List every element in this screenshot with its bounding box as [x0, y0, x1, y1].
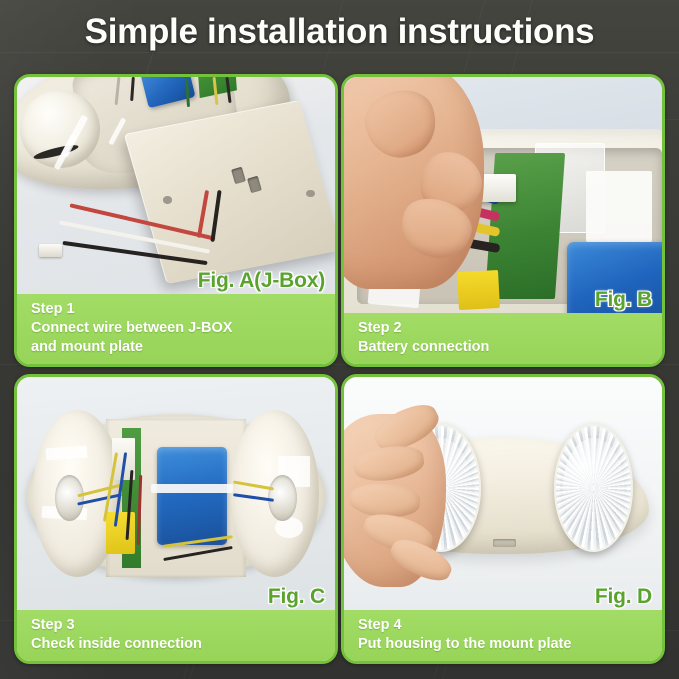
- fig-label-4: Fig. D: [595, 585, 652, 609]
- step-number-1: Step 1: [31, 300, 335, 319]
- step-caption-1: Step 1 Connect wire between J-BOX and mo…: [17, 294, 335, 364]
- instruction-poster: Simple installation instructions: [0, 0, 679, 679]
- lamp-socket-left-shape: [55, 475, 84, 522]
- photo-scene-mounting: [344, 377, 662, 610]
- photo-scene-jbox: [17, 77, 335, 294]
- ul-rating-label-shape: [586, 171, 653, 242]
- step-photo-1: Fig. A(J-Box): [17, 77, 335, 294]
- photo-scene-interior: [17, 377, 335, 610]
- step-text-4-line-1: Put housing to the mount plate: [358, 635, 662, 654]
- steps-grid: Fig. A(J-Box) Step 1 Connect wire betwee…: [14, 74, 665, 664]
- wire-connector-shape: [39, 244, 61, 257]
- step-text-3-line-1: Check inside connection: [31, 635, 335, 654]
- fig-label-3: Fig. C: [268, 585, 325, 609]
- battery-strap-shape: [151, 484, 234, 493]
- fig-label-1: Fig. A(J-Box): [198, 269, 325, 293]
- step-photo-2: Fig. B: [344, 77, 662, 313]
- test-button-shape: [493, 539, 515, 547]
- step-number-4: Step 4: [358, 616, 662, 635]
- step-text-2-line-1: Battery connection: [358, 338, 662, 357]
- step-card-3[interactable]: Fig. C Step 3 Check inside connection: [14, 374, 338, 664]
- step-text-1-line-1: Connect wire between J-BOX: [31, 319, 335, 338]
- yellow-component-shape: [458, 269, 501, 309]
- fig-label-2: Fig. B: [595, 288, 652, 312]
- step-caption-2: Step 2 Battery connection: [344, 313, 662, 364]
- transformer-shape: [106, 512, 135, 554]
- mount-plate-hole-shape: [306, 190, 314, 197]
- mount-plate-hole-shape: [163, 196, 171, 203]
- battery-pack-shape: [157, 447, 227, 545]
- step-card-1[interactable]: Fig. A(J-Box) Step 1 Connect wire betwee…: [14, 74, 338, 367]
- led-lamp-head-right-shape: [554, 424, 634, 552]
- step-card-2[interactable]: Fig. B Step 2 Battery connection: [341, 74, 665, 367]
- step-photo-4: Fig. D: [344, 377, 662, 610]
- page-title: Simple installation instructions: [0, 10, 679, 54]
- step-caption-3: Step 3 Check inside connection: [17, 610, 335, 661]
- step-number-3: Step 3: [31, 616, 335, 635]
- step-photo-3: Fig. C: [17, 377, 335, 610]
- step-caption-4: Step 4 Put housing to the mount plate: [344, 610, 662, 661]
- step-text-1-line-2: and mount plate: [31, 338, 335, 357]
- step-card-4[interactable]: Fig. D Step 4 Put housing to the mount p…: [341, 374, 665, 664]
- step-number-2: Step 2: [358, 319, 662, 338]
- photo-scene-battery: [344, 77, 662, 313]
